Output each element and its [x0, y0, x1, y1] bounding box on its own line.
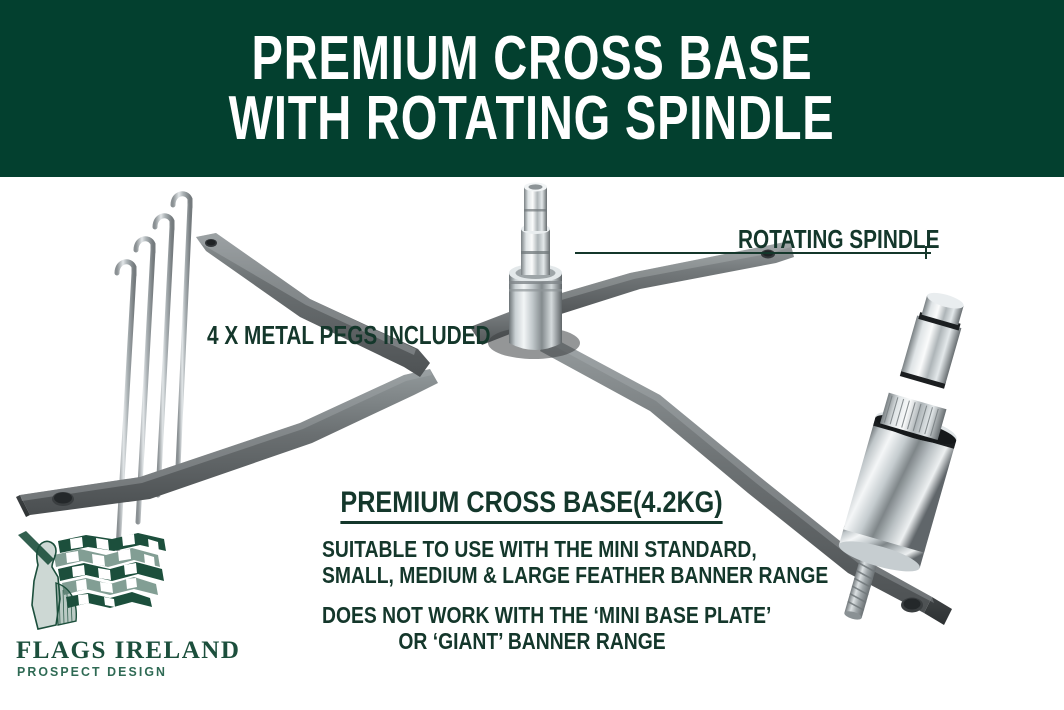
centre-spindle: [509, 183, 562, 351]
flag-figure-icon: [8, 525, 183, 645]
callout-metal-pegs: 4 X METAL PEGS INCLUDED: [207, 320, 491, 351]
logo-wordmark: FLAGS IRELAND: [16, 637, 240, 665]
description-line: DOES NOT WORK WITH THE ‘MINI BASE PLATE’: [322, 602, 742, 628]
description-line: SUITABLE TO USE WITH THE MINI STANDARD,: [322, 536, 742, 562]
description-paragraph-2: DOES NOT WORK WITH THE ‘MINI BASE PLATE’…: [322, 602, 742, 654]
callout-rotating-spindle: ROTATING SPINDLE: [738, 224, 939, 255]
page-title-line-2: WITH ROTATING SPINDLE: [229, 90, 835, 147]
description-paragraph-1: SUITABLE TO USE WITH THE MINI STANDARD, …: [322, 536, 742, 588]
description-line: OR ‘GIANT’ BANNER RANGE: [322, 628, 742, 654]
description-heading: PREMIUM CROSS BASE(4.2KG): [341, 488, 723, 524]
description-line: SMALL, MEDIUM & LARGE FEATHER BANNER RAN…: [322, 562, 742, 588]
page-title-line-1: PREMIUM CROSS BASE: [252, 30, 813, 87]
header-banner: PREMIUM CROSS BASE WITH ROTATING SPINDLE: [0, 0, 1064, 177]
metal-peg: [117, 262, 134, 549]
infographic-page: PREMIUM CROSS BASE WITH ROTATING SPINDLE: [0, 0, 1064, 710]
metal-peg: [173, 194, 190, 467]
brand-logo: FLAGS IRELAND PROSPECT DESIGN: [8, 525, 183, 685]
description-block: PREMIUM CROSS BASE(4.2KG) SUITABLE TO US…: [282, 488, 782, 654]
logo-subline: PROSPECT DESIGN: [17, 664, 167, 679]
rotating-spindle-product: [820, 285, 994, 633]
cross-base-arm-top-left: [196, 233, 430, 377]
metal-peg: [155, 216, 172, 495]
callout-leader-tick: [925, 246, 927, 259]
callout-leader-line: [575, 252, 931, 254]
